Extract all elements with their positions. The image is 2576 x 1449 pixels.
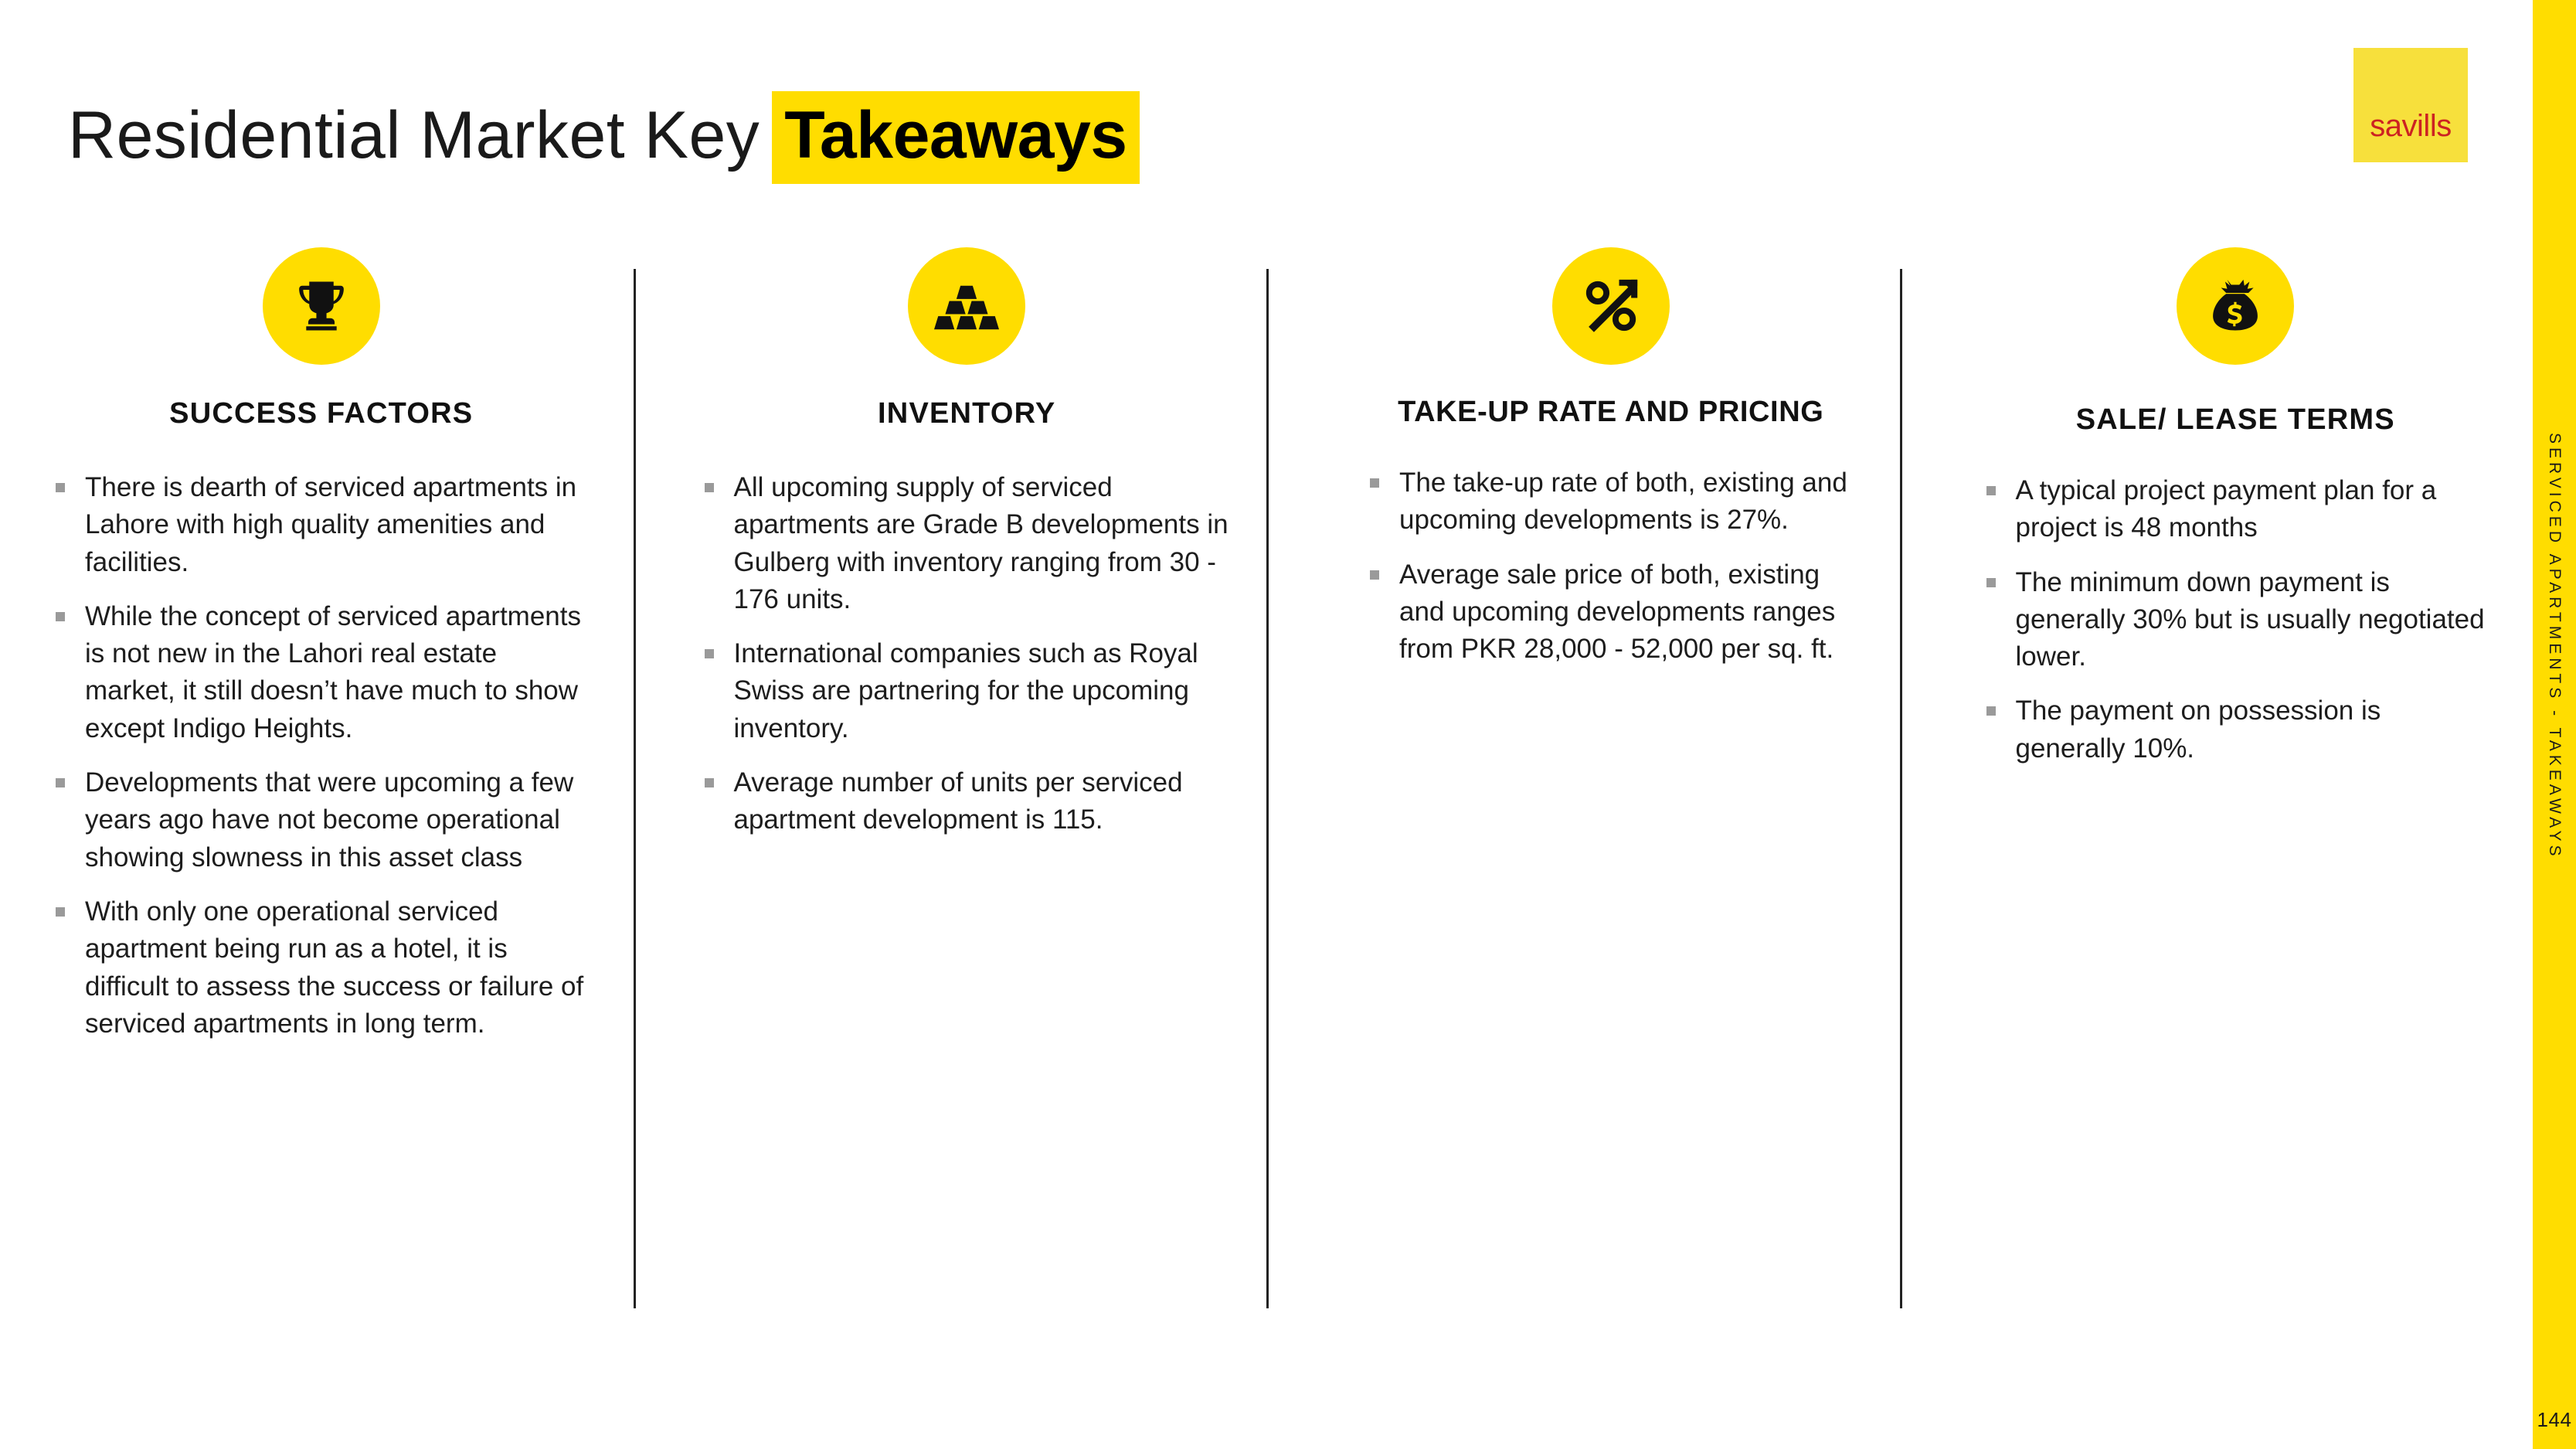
list-item: The payment on possession is generally 1… (1986, 692, 2486, 767)
list-item: A typical project payment plan for a pro… (1986, 472, 2486, 547)
bullet-list: All upcoming supply of serviced apartmen… (705, 469, 1230, 839)
bullet-square-icon (1986, 578, 1996, 587)
bullet-text: Average number of units per serviced apa… (734, 764, 1230, 839)
column-heading: TAKE-UP RATE AND PRICING (1353, 396, 1869, 429)
page-title: Residential Market Key Takeaways (68, 91, 1140, 184)
bullet-text: The minimum down payment is generally 30… (2016, 564, 2486, 676)
bullet-text: There is dearth of serviced apartments i… (85, 469, 587, 581)
page-title-highlight: Takeaways (772, 91, 1139, 184)
bullet-square-icon (1370, 478, 1379, 488)
bullet-text: Average sale price of both, existing and… (1399, 556, 1869, 668)
bullet-text: International companies such as Royal Sw… (734, 635, 1230, 747)
savills-logo: savills (2353, 48, 2468, 162)
gold-bars-icon (908, 247, 1025, 365)
column-heading: SALE/ LEASE TERMS (1986, 403, 2486, 437)
bullet-text: With only one operational serviced apart… (85, 893, 587, 1043)
list-item: All upcoming supply of serviced apartmen… (705, 469, 1230, 618)
bullet-square-icon (1986, 486, 1996, 495)
bullet-text: While the concept of serviced apartments… (85, 598, 587, 747)
section-sidebar: SERVICED APARTMENTS - TAKEAWAYS 144 (2533, 0, 2576, 1449)
bullet-text: A typical project payment plan for a pro… (2016, 472, 2486, 547)
list-item: There is dearth of serviced apartments i… (56, 469, 587, 581)
trophy-icon (263, 247, 380, 365)
bullet-square-icon (705, 778, 714, 787)
list-item: Developments that were upcoming a few ye… (56, 764, 587, 876)
savills-wordmark: savills (2353, 109, 2468, 144)
bullet-square-icon (705, 649, 714, 658)
takeaway-columns: SUCCESS FACTORS There is dearth of servi… (0, 247, 2533, 1345)
slide-canvas: Residential Market Key Takeaways savills… (0, 0, 2576, 1449)
bullet-square-icon (1986, 706, 1996, 716)
list-item: International companies such as Royal Sw… (705, 635, 1230, 747)
bullet-list: There is dearth of serviced apartments i… (56, 469, 587, 1043)
list-item: While the concept of serviced apartments… (56, 598, 587, 747)
bullet-square-icon (56, 907, 65, 917)
bullet-square-icon (705, 483, 714, 492)
page-title-plain: Residential Market Key (68, 102, 760, 168)
page-number: 144 (2537, 1408, 2572, 1432)
takeaway-column-sale-lease-terms: SALE/ LEASE TERMS A typical project paym… (1900, 247, 2534, 1345)
section-sidebar-label: SERVICED APARTMENTS - TAKEAWAYS (2545, 433, 2564, 860)
bullet-square-icon (56, 483, 65, 492)
bullet-square-icon (1370, 570, 1379, 580)
list-item: With only one operational serviced apart… (56, 893, 587, 1043)
bullet-text: All upcoming supply of serviced apartmen… (734, 469, 1230, 618)
bullet-square-icon (56, 778, 65, 787)
money-bag-icon (2177, 247, 2294, 365)
bullet-text: Developments that were upcoming a few ye… (85, 764, 587, 876)
list-item: The take-up rate of both, existing and u… (1370, 464, 1869, 539)
list-item: Average number of units per serviced apa… (705, 764, 1230, 839)
takeaway-column-success-factors: SUCCESS FACTORS There is dearth of servi… (0, 247, 634, 1345)
takeaway-column-inventory: INVENTORY All upcoming supply of service… (634, 247, 1267, 1345)
bullet-text: The payment on possession is generally 1… (2016, 692, 2486, 767)
bullet-list: The take-up rate of both, existing and u… (1353, 464, 1869, 668)
list-item: Average sale price of both, existing and… (1370, 556, 1869, 668)
percent-growth-icon (1552, 247, 1670, 365)
bullet-list: A typical project payment plan for a pro… (1986, 472, 2486, 767)
bullet-square-icon (56, 612, 65, 621)
column-heading: INVENTORY (705, 397, 1230, 430)
list-item: The minimum down payment is generally 30… (1986, 564, 2486, 676)
takeaway-column-take-up-rate-and-pricing: TAKE-UP RATE AND PRICING The take-up rat… (1266, 247, 1900, 1345)
bullet-text: The take-up rate of both, existing and u… (1399, 464, 1869, 539)
column-heading: SUCCESS FACTORS (56, 397, 587, 430)
